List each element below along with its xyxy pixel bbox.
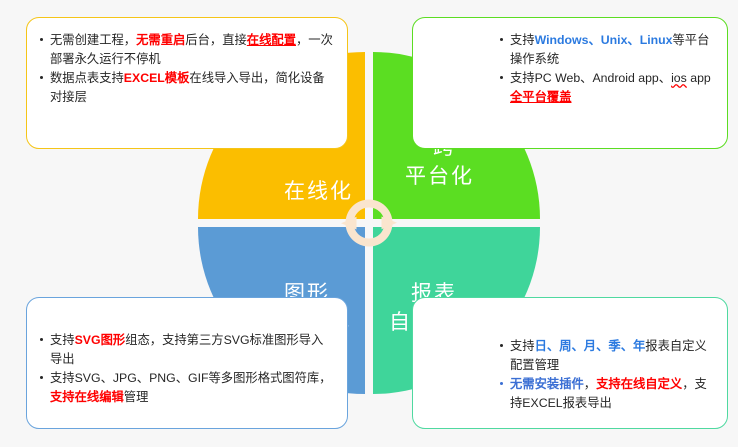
text-run: app	[687, 71, 711, 85]
text-run: EXCEL模板	[124, 71, 190, 85]
bullet-item: 支持PC Web、Android app、ios app全平台覆盖	[499, 69, 713, 106]
text-run: 无需创建工程，	[50, 33, 136, 47]
text-run: 支持PC Web、Android app、	[510, 71, 671, 85]
text-run: 支持在线自定义	[596, 377, 682, 391]
bullet-item: 支持日、周、月、季、年报表自定义配置管理	[499, 337, 713, 374]
text-run: 支持	[510, 339, 535, 353]
text-run: 支持	[510, 33, 535, 47]
quadrant-top-left-line-1: 在线化	[284, 178, 353, 207]
text-run: 支持	[50, 333, 75, 347]
bullet-item: 支持Windows、Unix、Linux等平台操作系统	[499, 31, 713, 68]
callout-card-online[interactable]: 无需创建工程，无需重启后台，直接在线配置，一次部署永久运行不停机数据点表支持EX…	[26, 17, 348, 149]
callout-card-reports-bullets: 支持日、周、月、季、年报表自定义配置管理无需安装插件，支持在线自定义，支持EXC…	[499, 337, 713, 413]
callout-card-online-bullets: 无需创建工程，无需重启后台，直接在线配置，一次部署永久运行不停机数据点表支持EX…	[39, 31, 333, 107]
text-run: 无需安装插件	[510, 377, 584, 391]
text-run: 全平台覆盖	[510, 90, 572, 104]
callout-card-reports[interactable]: 支持日、周、月、季、年报表自定义配置管理无需安装插件，支持在线自定义，支持EXC…	[412, 297, 728, 429]
diagram-canvas: 在线化 跨 平台化 图形 组态化 报表 自定义化	[0, 0, 738, 447]
bullet-item: 支持SVG图形组态，支持第三方SVG标准图形导入导出	[39, 331, 333, 368]
bullet-item: 无需安装插件，支持在线自定义，支持EXCEL报表导出	[499, 375, 713, 412]
callout-card-cross-platform-bullets: 支持Windows、Unix、Linux等平台操作系统支持PC Web、Andr…	[499, 31, 713, 107]
text-run: 管理	[124, 390, 149, 404]
text-run: 支持在线编辑	[50, 390, 124, 404]
callout-card-cross-platform[interactable]: 支持Windows、Unix、Linux等平台操作系统支持PC Web、Andr…	[412, 17, 728, 149]
bullet-item: 无需创建工程，无需重启后台，直接在线配置，一次部署永久运行不停机	[39, 31, 333, 68]
quadrant-top-left-label: 在线化	[284, 178, 353, 207]
quadrant-top-right-line-2: 平台化	[405, 163, 474, 192]
bullet-item: 支持SVG、JPG、PNG、GIF等多图形格式图符库，支持在线编辑管理	[39, 369, 333, 406]
text-run: ，	[584, 377, 596, 391]
text-run: Windows、Unix、Linux	[535, 33, 673, 47]
text-run: 在线配置	[247, 33, 296, 47]
callout-card-graphics[interactable]: 支持SVG图形组态，支持第三方SVG标准图形导入导出支持SVG、JPG、PNG、…	[26, 297, 348, 429]
text-run: 无需重启	[136, 33, 185, 47]
text-run: 数据点表支持	[50, 71, 124, 85]
text-run: 日、周、月、季、年	[535, 339, 646, 353]
text-run: SVG图形	[75, 333, 126, 347]
text-run: ios	[671, 71, 687, 85]
callout-card-graphics-bullets: 支持SVG图形组态，支持第三方SVG标准图形导入导出支持SVG、JPG、PNG、…	[39, 331, 333, 407]
text-run: 支持SVG、JPG、PNG、GIF等多图形格式图符库，	[50, 371, 331, 385]
bullet-item: 数据点表支持EXCEL模板在线导入导出，简化设备对接层	[39, 69, 333, 106]
text-run: 后台，直接	[185, 33, 247, 47]
